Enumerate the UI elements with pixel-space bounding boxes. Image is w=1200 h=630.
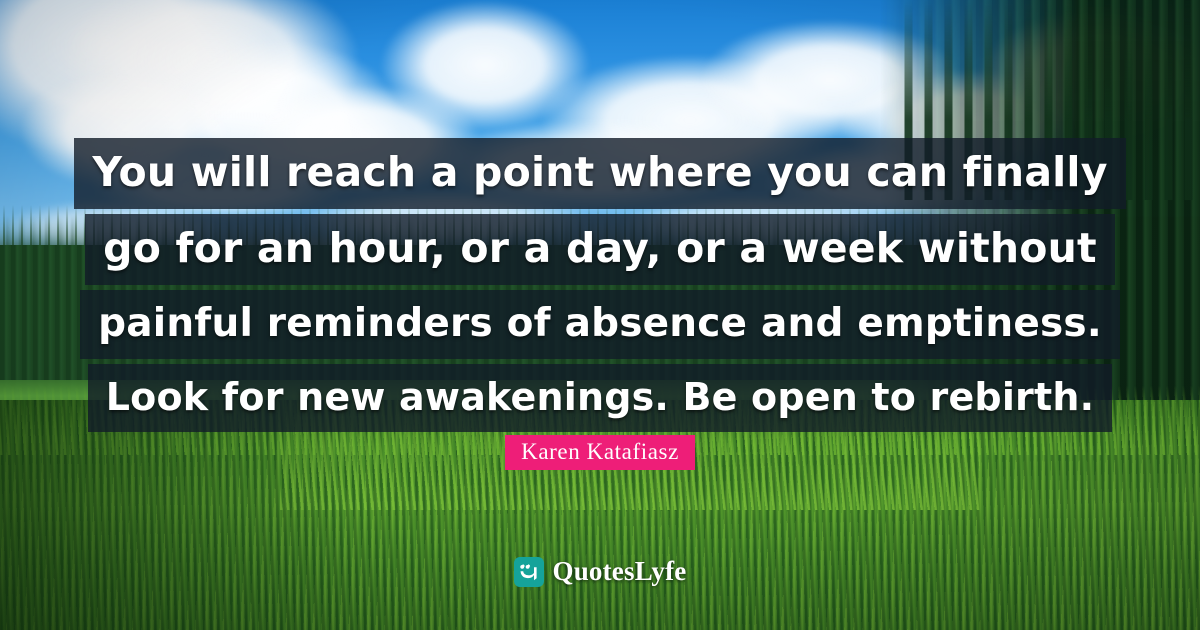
brand-logo: QuotesLyfe	[0, 556, 1200, 587]
author-name-badge: Karen Katafiasz	[505, 435, 695, 470]
brand-name: QuotesLyfe	[553, 556, 687, 587]
quote-line: You will reach a point where you can fin…	[74, 138, 1125, 209]
author-attribution: Karen Katafiasz	[0, 435, 1200, 470]
quote-line: go for an hour, or a day, or a week with…	[85, 214, 1115, 285]
quote-text-block: You will reach a point where you can fin…	[0, 138, 1200, 437]
quote-smiley-icon	[514, 557, 544, 587]
quote-line: painful reminders of absence and emptine…	[80, 290, 1120, 359]
quote-line: Look for new awakenings. Be open to rebi…	[88, 364, 1113, 432]
quote-image-card: You will reach a point where you can fin…	[0, 0, 1200, 630]
